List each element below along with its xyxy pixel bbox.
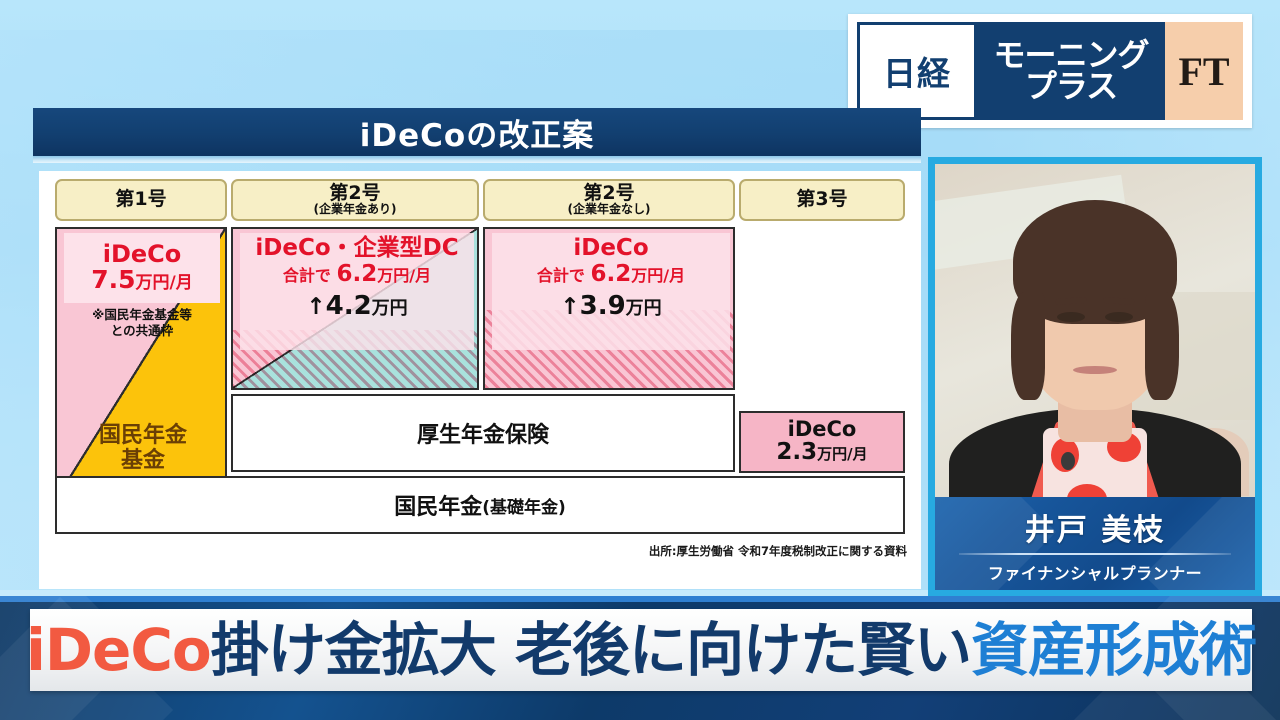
col3-total-unit: 万円/月 (631, 266, 685, 285)
presenter-nameplate: 井戸 美枝 ファイナンシャルプランナー (935, 497, 1255, 590)
presenter-eye-left (1057, 312, 1085, 322)
program-name-logo: モーニング プラス (977, 22, 1165, 120)
col2-total-prefix: 合計で (283, 266, 331, 285)
column-3-body: iDeCo 合計で 6.2万円/月 ↑3.9万円 (483, 227, 735, 390)
column-header-3-main: 第2号 (583, 184, 634, 203)
col1-ideco-label: iDeCo (103, 242, 182, 266)
column-header-2-sub: (企業年金あり) (314, 203, 397, 216)
col1-kokumin-line1: 国民年金 (99, 424, 187, 449)
col1-note-line2: との共通枠 (63, 323, 221, 339)
col3-total-row: 合計で 6.2万円/月 (537, 261, 685, 289)
column-header-1-main: 第1号 (115, 190, 166, 209)
presenter-eye-right (1105, 312, 1133, 322)
program-name-line2: プラス (1025, 71, 1117, 102)
column-header-4: 第3号 (739, 179, 905, 221)
col1-ideco-box: iDeCo 7.5万円/月 (64, 233, 220, 303)
row-kokumin-main: 国民年金 (394, 489, 482, 521)
col1-note: ※国民年金基金等 との共通枠 (63, 307, 221, 338)
col2-delta-amount: 4.2 (326, 291, 372, 321)
chart-title: iDeCoの改正案 (33, 108, 921, 156)
col2-ideco-box: iDeCo・企業型DC 合計で 6.2万円/月 ↑4.2万円 (240, 233, 474, 350)
chart-source: 出所:厚生労働省 令和7年度税制改正に関する資料 (649, 543, 907, 559)
column-header-2: 第2号 (企業年金あり) (231, 179, 479, 221)
col4-ideco-amount: 2.3 (776, 439, 817, 465)
col1-note-line1: ※国民年金基金等 (63, 307, 221, 323)
column-header-2-main: 第2号 (329, 184, 380, 203)
presenter-mouth (1073, 366, 1117, 374)
col2-total-unit: 万円/月 (377, 266, 431, 285)
up-arrow-icon: ↑ (306, 294, 325, 320)
row-kokumin-sub: (基礎年金) (482, 493, 566, 518)
presenter-hair-right (1145, 292, 1179, 400)
up-arrow-icon: ↑ (560, 294, 579, 320)
col3-ideco-box: iDeCo 合計で 6.2万円/月 ↑3.9万円 (492, 233, 730, 350)
bottom-banner: iDeCo掛け金拡大 老後に向けた賢い資産形成術 (0, 596, 1280, 720)
chart-panel: 第1号 第2号 (企業年金あり) 第2号 (企業年金なし) 第3号 iDeCo … (39, 171, 921, 589)
row-kokumin-nenkin: 国民年金(基礎年金) (55, 476, 905, 534)
col2-total-row: 合計で 6.2万円/月 (283, 261, 431, 289)
col2-delta-unit: 万円 (372, 298, 408, 319)
row-kousei-nenkin: 厚生年金保険 (231, 394, 735, 472)
col3-total-prefix: 合計で (537, 266, 585, 285)
col2-ideco-label: iDeCo・企業型DC (255, 236, 458, 260)
column-header-3-sub: (企業年金なし) (568, 203, 651, 216)
col1-ideco-amount-row: 7.5万円/月 (91, 267, 193, 293)
column-2-body: iDeCo・企業型DC 合計で 6.2万円/月 ↑4.2万円 (231, 227, 479, 390)
col1-ideco-amount: 7.5 (91, 265, 135, 294)
col4-ideco-label: iDeCo (788, 419, 857, 440)
nikkei-logo: 日経 (857, 22, 977, 120)
presenter-role: ファイナンシャルプランナー (935, 560, 1255, 584)
column-header-1: 第1号 (55, 179, 227, 221)
col2-delta-row: ↑4.2万円 (306, 292, 407, 321)
col4-ideco-amount-row: 2.3万円/月 (776, 440, 867, 465)
banner-headline-part3: 資産形成術 (971, 616, 1256, 684)
banner-headline: iDeCo掛け金拡大 老後に向けた賢い資産形成術 (26, 621, 1256, 679)
col3-total-amount: 6.2 (590, 261, 631, 287)
col3-delta-amount: 3.9 (580, 291, 626, 321)
ft-logo: FT (1165, 22, 1243, 120)
column-1-body: iDeCo 7.5万円/月 ※国民年金基金等 との共通枠 国民年金 基金 (55, 227, 227, 500)
banner-headline-part1: iDeCo (26, 616, 211, 684)
col2-total-amount: 6.2 (336, 261, 377, 287)
presenter-figure (945, 190, 1245, 520)
banner-headline-part2: 掛け金拡大 老後に向けた賢い (211, 616, 971, 684)
column-header-3: 第2号 (企業年金なし) (483, 179, 735, 221)
col4-ideco-unit: 万円/月 (817, 445, 867, 463)
nameplate-divider (959, 553, 1231, 555)
col1-ideco-unit: 万円/月 (136, 273, 193, 293)
chart-title-underline (33, 156, 921, 163)
col3-delta-unit: 万円 (626, 298, 662, 319)
presenter-hair-left (1011, 292, 1045, 400)
col1-kokumin-line2: 基金 (121, 449, 165, 474)
banner-top-accent (0, 596, 1280, 602)
col3-delta-row: ↑3.9万円 (560, 292, 661, 321)
banner-strip: iDeCo掛け金拡大 老後に向けた賢い資産形成術 (30, 609, 1252, 691)
column-header-4-main: 第3号 (796, 190, 847, 209)
col3-ideco-label: iDeCo (573, 236, 648, 260)
presenter-name: 井戸 美枝 (935, 505, 1255, 549)
col4-ideco-box: iDeCo 2.3万円/月 (739, 411, 905, 473)
